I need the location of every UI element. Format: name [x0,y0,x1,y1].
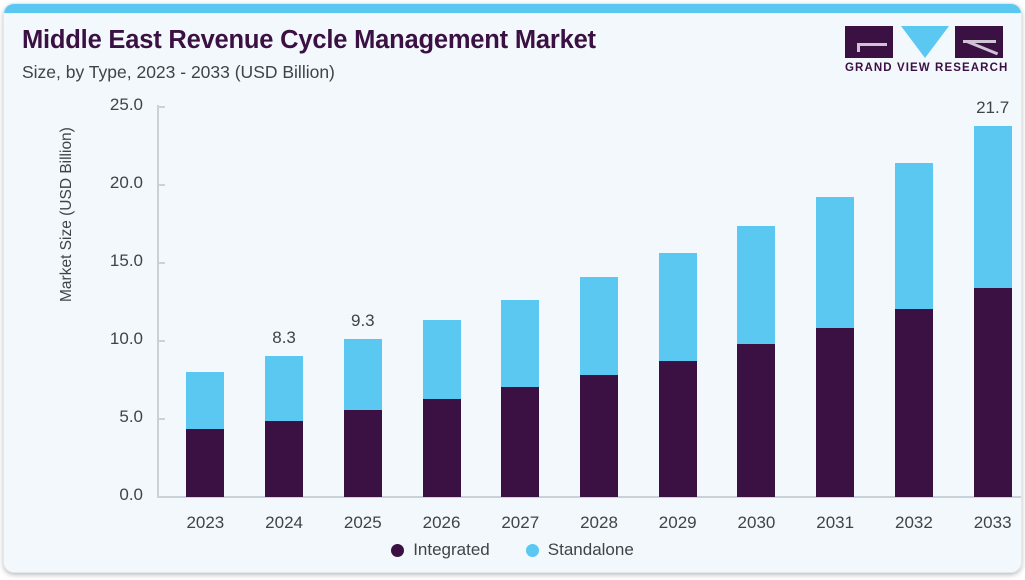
x-axis-tick-label: 2028 [558,513,640,537]
y-axis-tick-label: 25.0 [110,95,143,115]
x-axis-tick-label: 2025 [322,513,404,537]
bar-segment-integrated[interactable] [423,399,461,497]
x-axis-tick-label: 2026 [401,513,483,537]
x-axis-tick-label: 2029 [637,513,719,537]
logo-letter-v-triangle-icon [901,26,949,58]
legend-label: Integrated [413,540,490,560]
grand-view-research-logo: GRAND VIEW RESEARCH [845,26,1003,80]
y-axis-tick-mark [157,340,165,342]
chart-card: Middle East Revenue Cycle Management Mar… [4,4,1021,572]
page-title: Middle East Revenue Cycle Management Mar… [22,26,596,55]
bar-segment-standalone[interactable] [186,372,224,429]
y-axis-tick-label: 5.0 [119,407,143,427]
legend-item-standalone[interactable]: Standalone [526,540,634,560]
x-axis-tick-label: 2033 [952,513,1021,537]
page-subtitle: Size, by Type, 2023 - 2033 (USD Billion) [22,62,335,83]
x-axis-tick-label: 2027 [479,513,561,537]
x-axis-tick-label: 2024 [243,513,325,537]
x-axis-tick-label: 2023 [164,513,246,537]
bar-segment-standalone[interactable] [265,356,303,421]
y-axis-tick-mark [157,184,165,186]
bar-segment-standalone[interactable] [659,253,697,361]
bar-value-label: 21.7 [952,98,1021,118]
chart-legend: IntegratedStandalone [4,540,1021,560]
bar-segment-standalone[interactable] [344,339,382,410]
y-axis-tick-label: 20.0 [110,173,143,193]
bar-segment-integrated[interactable] [974,288,1012,497]
legend-label: Standalone [548,540,634,560]
y-axis-tick-mark [157,418,165,420]
bar-segment-standalone[interactable] [737,226,775,344]
x-axis-tick-label: 2030 [715,513,797,537]
y-axis-tick-label: 10.0 [110,329,143,349]
logo-letter-r-icon [955,26,1003,58]
logo-g-bar [857,43,887,46]
x-axis-tick-label: 2031 [794,513,876,537]
bar-segment-integrated[interactable] [501,387,539,497]
bar-segment-standalone[interactable] [423,320,461,399]
top-accent-bar [4,4,1021,13]
logo-g-stem [857,43,860,52]
bar-value-label: 8.3 [243,328,325,348]
x-axis-tick-label: 2032 [873,513,955,537]
bar-segment-integrated[interactable] [816,328,854,497]
bar-segment-standalone[interactable] [501,300,539,387]
y-axis-tick-label: 0.0 [119,485,143,505]
y-axis-tick-mark [157,106,165,108]
y-axis-title: Market Size (USD Billion) [58,127,76,302]
logo-letter-g-icon [845,26,893,58]
bar-segment-integrated[interactable] [186,429,224,497]
plot-area: 0.05.010.015.020.025.0 20238.320249.3202… [157,107,1021,497]
bar-segment-standalone[interactable] [974,126,1012,288]
bar-segment-standalone[interactable] [816,197,854,328]
bar-segment-integrated[interactable] [737,344,775,497]
bar-segment-integrated[interactable] [895,309,933,497]
bar-segment-standalone[interactable] [580,277,618,375]
bar-segment-integrated[interactable] [265,421,303,497]
y-axis-tick-label: 15.0 [110,251,143,271]
legend-color-swatch-icon [391,544,404,557]
y-axis-tick-mark [157,496,165,498]
legend-color-swatch-icon [526,544,539,557]
bar-segment-integrated[interactable] [659,361,697,498]
bar-segment-standalone[interactable] [895,163,933,309]
bar-segment-integrated[interactable] [344,410,382,497]
bar-value-label: 9.3 [322,311,404,331]
logo-wordmark: GRAND VIEW RESEARCH [845,62,1003,74]
legend-item-integrated[interactable]: Integrated [391,540,490,560]
logo-mark [845,26,1003,58]
y-axis-tick-mark [157,262,165,264]
bar-segment-integrated[interactable] [580,375,618,497]
